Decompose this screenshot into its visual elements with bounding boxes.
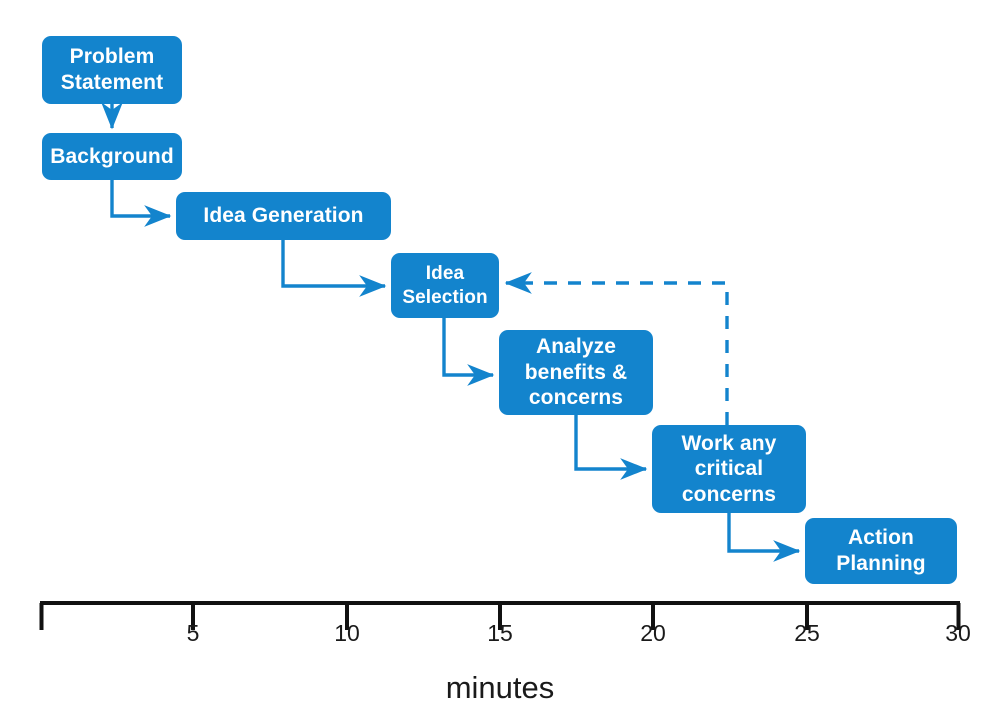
axis-tick-label-25: 25: [794, 620, 820, 647]
axis-tick-label-15: 15: [487, 620, 513, 647]
axis-tick-label-20: 20: [640, 620, 666, 647]
connector-idea-generation-to-idea-selection: [283, 240, 385, 286]
diagram-canvas: Problem Statement Background Idea Genera…: [0, 0, 1000, 724]
node-idea-generation[interactable]: Idea Generation: [176, 192, 391, 240]
axis-tick-label-5: 5: [187, 620, 200, 647]
node-idea-selection[interactable]: Idea Selection: [391, 253, 499, 318]
axis-title-minutes: minutes: [446, 670, 555, 706]
connector-work-critical-to-action-planning: [729, 513, 799, 551]
node-analyze-benefits-concerns[interactable]: Analyze benefits & concerns: [499, 330, 653, 415]
axis-tick-label-30: 30: [945, 620, 971, 647]
node-problem-statement[interactable]: Problem Statement: [42, 36, 182, 104]
node-work-any-critical-concerns[interactable]: Work any critical concerns: [652, 425, 806, 513]
axis-tick-label-10: 10: [334, 620, 360, 647]
node-background[interactable]: Background: [42, 133, 182, 180]
node-action-planning[interactable]: Action Planning: [805, 518, 957, 584]
connector-analyze-to-work-critical: [576, 415, 646, 469]
connector-background-to-idea-generation: [112, 180, 170, 216]
connector-idea-selection-to-analyze: [444, 318, 493, 375]
